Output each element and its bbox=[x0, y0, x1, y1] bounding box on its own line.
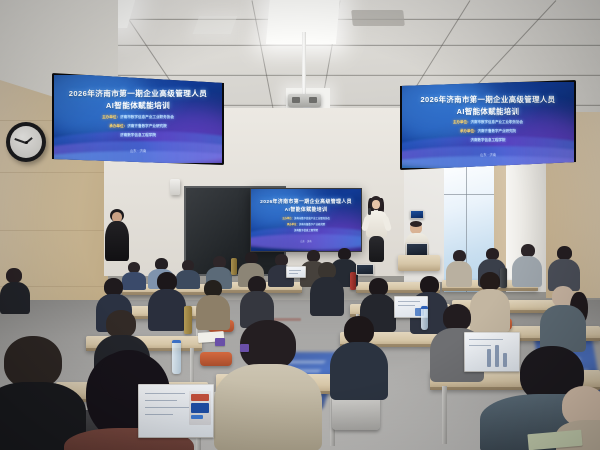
seated-attendee bbox=[310, 262, 344, 314]
slide-content-right: 2026年济南市第一期企业高级管理人员 AI智能体赋能培训 主办单位：济南市数字… bbox=[402, 82, 574, 168]
slide-org-row: 济南数字信息工程学院 bbox=[54, 133, 222, 138]
right-led-display: 2026年济南市第一期企业高级管理人员 AI智能体赋能培训 主办单位：济南市数字… bbox=[400, 80, 576, 170]
slide-org-row: 承办单位：济南齐鲁数字产业研究院 bbox=[54, 124, 222, 129]
slide-content-left: 2026年济南市第一期企业高级管理人员 AI智能体赋能培训 主办单位：济南市数字… bbox=[54, 75, 222, 163]
slide-title-line1: 2026年济南市第一期企业高级管理人员 bbox=[54, 88, 222, 99]
slide-org-label: 主办单位： bbox=[102, 115, 120, 119]
seated-attendee bbox=[240, 276, 274, 326]
ceiling-projector bbox=[288, 94, 321, 107]
slide-footer: 山东 · 济南 bbox=[54, 148, 222, 153]
slide-org-value: 济南数字信息工程学院 bbox=[471, 138, 506, 142]
slide-org-value: 济南齐鲁数字产业研究院 bbox=[299, 223, 325, 226]
seated-attendee bbox=[0, 268, 30, 312]
slide-org-label: 主办单位： bbox=[282, 217, 294, 220]
slide-org-row: 主办单位：济南市数字信息产业工业职务协会 bbox=[251, 216, 361, 220]
thermos-flask bbox=[500, 268, 507, 288]
standing-attendee bbox=[104, 209, 130, 261]
seated-attendee bbox=[548, 246, 580, 290]
slide-org-label: 承办单位： bbox=[109, 124, 127, 128]
slide-org-row: 济南数字信息工程学院 bbox=[402, 138, 574, 143]
seated-attendee bbox=[512, 244, 542, 286]
seated-attendee bbox=[446, 250, 472, 286]
slide-org-label: 承办单位： bbox=[287, 223, 299, 226]
slide-org-row: 主办单位：济南市数字信息产业工业职务协会 bbox=[402, 120, 574, 125]
presenter-with-microphone bbox=[361, 196, 393, 266]
left-led-display: 2026年济南市第一期企业高级管理人员 AI智能体赋能培训 主办单位：济南市数字… bbox=[52, 73, 224, 165]
slide-org-row: 主办单位：济南市数字信息产业工业职务协会 bbox=[54, 115, 222, 120]
podium bbox=[398, 255, 440, 271]
seated-attendee bbox=[148, 272, 186, 328]
water-bottle bbox=[421, 306, 428, 330]
slide-org-value: 济南数字信息工程学院 bbox=[294, 229, 318, 232]
thermos-flask bbox=[231, 258, 237, 275]
handout-paper bbox=[215, 338, 225, 346]
wall-speaker bbox=[170, 179, 180, 195]
attendee-laptop bbox=[464, 332, 520, 372]
slide-content-center: 2026年济南市第一期企业高级管理人员 AI智能体赋能培训 主办单位：济南市数字… bbox=[251, 189, 361, 251]
slide-org-value: 济南市数字信息产业工业职务协会 bbox=[120, 115, 174, 119]
slide-org-value: 济南市数字信息产业工业职务协会 bbox=[294, 217, 330, 220]
attendee-laptop bbox=[286, 266, 306, 278]
attendee-laptop bbox=[138, 384, 214, 438]
slide-footer: 山东 · 济南 bbox=[402, 152, 574, 157]
handheld-microphone bbox=[368, 208, 371, 215]
seated-attendee bbox=[330, 316, 388, 398]
slide-org-value: 济南数字信息工程学院 bbox=[120, 133, 156, 137]
presenter-legs bbox=[369, 236, 384, 262]
projector-mount-pole bbox=[302, 32, 306, 97]
ceiling-vent bbox=[351, 10, 405, 26]
seated-attendee bbox=[540, 286, 586, 350]
thermos-flask bbox=[350, 272, 356, 290]
classroom-photo: 2026年济南市第一期企业高级管理人员 AI智能体赋能培训 主办单位：济南市数字… bbox=[0, 0, 600, 450]
slide-title-line2: AI智能体赋能培训 bbox=[402, 106, 574, 117]
slide-org-row: 济南数字信息工程学院 bbox=[251, 228, 361, 232]
slide-org-row: 承办单位：济南齐鲁数字产业研究院 bbox=[251, 222, 361, 226]
slide-title-line1: 2026年济南市第一期企业高级管理人员 bbox=[251, 198, 361, 205]
presenter-face bbox=[372, 200, 380, 209]
podium-small-display bbox=[410, 210, 424, 219]
handout-paper bbox=[240, 344, 249, 352]
desk-leg bbox=[442, 386, 447, 444]
water-bottle bbox=[172, 340, 181, 374]
slide-org-label: 主办单位： bbox=[453, 120, 471, 124]
slide-org-row: 承办单位：济南齐鲁数字产业研究院 bbox=[402, 129, 574, 134]
ceiling-panel-light bbox=[193, 16, 238, 34]
thermos-flask bbox=[184, 306, 192, 334]
slide-org-value: 济南市数字信息产业工业职务协会 bbox=[471, 120, 524, 124]
slide-title-line1: 2026年济南市第一期企业高级管理人员 bbox=[402, 94, 574, 105]
slide-org-value: 济南齐鲁数字产业研究院 bbox=[478, 129, 517, 133]
slide-footer: 山东 · 济南 bbox=[251, 239, 361, 243]
slide-org-label: 承办单位： bbox=[460, 129, 478, 133]
wall-clock bbox=[6, 122, 46, 162]
seated-attendee bbox=[214, 320, 322, 450]
slide-title-line2: AI智能体赋能培训 bbox=[251, 206, 361, 213]
slide-title-line2: AI智能体赋能培训 bbox=[54, 100, 222, 111]
center-projection-screen: 2026年济南市第一期企业高级管理人员 AI智能体赋能培训 主办单位：济南市数字… bbox=[250, 188, 362, 252]
attendee-laptop bbox=[356, 264, 374, 275]
slide-org-value: 济南齐鲁数字产业研究院 bbox=[127, 124, 167, 128]
